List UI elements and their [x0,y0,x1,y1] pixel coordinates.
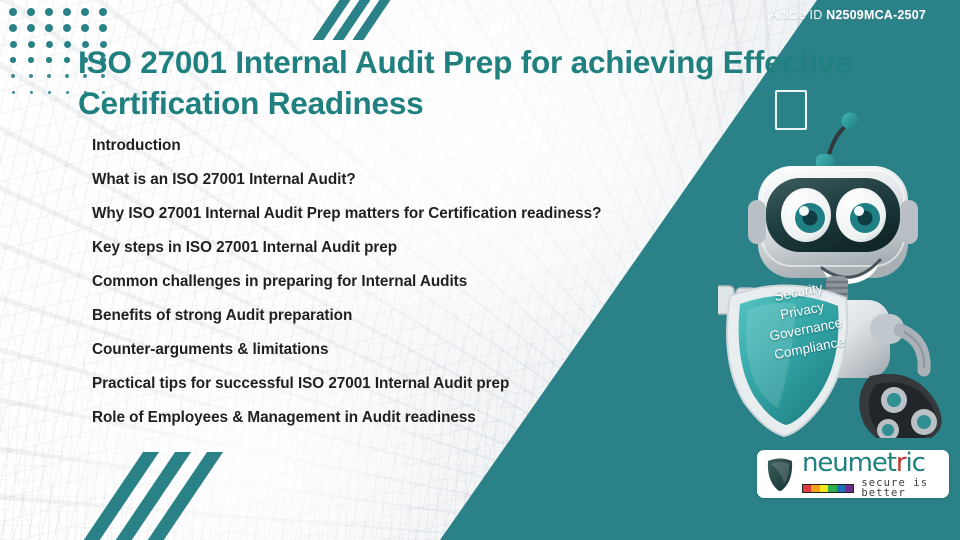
logo-tagline-row: secure is better [802,478,940,499]
agenda-item: Practical tips for successful ISO 27001 … [92,376,752,410]
agenda-list: IntroductionWhat is an ISO 27001 Interna… [92,138,752,444]
dot-icon [28,41,35,48]
dot-icon [27,24,35,32]
diagonal-bars-bottom [108,452,188,540]
agenda-item: What is an ISO 27001 Internal Audit? [92,172,752,206]
dot-icon [99,24,107,32]
dot-icon [99,8,108,17]
agenda-item: Introduction [92,138,752,172]
agenda-item: Why ISO 27001 Internal Audit Prep matter… [92,206,752,240]
dot-icon [63,8,72,17]
dot-grid-row [4,20,112,36]
agenda-item: Common challenges in preparing for Inter… [92,274,752,308]
slide-canvas: Article ID N2509MCA-2507 ISO 27001 Inter… [0,0,960,540]
logo-word-main: neumet [802,448,896,478]
agenda-item: Counter-arguments & limitations [92,342,752,376]
dot-icon [11,74,15,78]
rainbow-bar-icon [802,484,854,493]
dot-icon [45,24,53,32]
dot-icon [12,91,15,94]
dot-icon [66,91,69,94]
dot-icon [81,8,90,17]
dot-grid-row [4,4,112,20]
agenda-item: Benefits of strong Audit preparation [92,308,752,342]
logo-text-block: neumetric secure is better [802,450,940,499]
logo-wordmark: neumetric [802,450,940,476]
dot-icon [10,57,16,63]
article-id-label: Article ID [770,8,823,22]
dot-icon [65,74,69,78]
dot-icon [9,24,17,32]
logo-word-end: ic [905,448,924,478]
neumetric-logo[interactable]: neumetric secure is better [757,450,949,498]
dot-icon [9,8,18,17]
dot-icon [48,91,51,94]
dot-icon [30,91,33,94]
agenda-item: Key steps in ISO 27001 Internal Audit pr… [92,240,752,274]
dot-icon [64,41,71,48]
dot-icon [64,57,70,63]
dot-icon [47,74,51,78]
dot-icon [27,8,36,17]
dot-icon [81,24,89,32]
dot-icon [63,24,71,32]
dot-icon [10,41,17,48]
dot-icon [29,74,33,78]
agenda-item: Role of Employees & Management in Audit … [92,410,752,444]
article-id: Article ID N2509MCA-2507 [770,8,926,22]
dot-icon [46,41,53,48]
diagonal-bars-top [328,0,379,40]
robot-mascot-illustration [718,108,960,438]
logo-tagline: secure is better [861,478,940,499]
dot-icon [28,57,34,63]
dot-icon [45,8,54,17]
logo-shield-icon [766,457,794,491]
article-id-value: N2509MCA-2507 [826,8,926,22]
dot-icon [46,57,52,63]
